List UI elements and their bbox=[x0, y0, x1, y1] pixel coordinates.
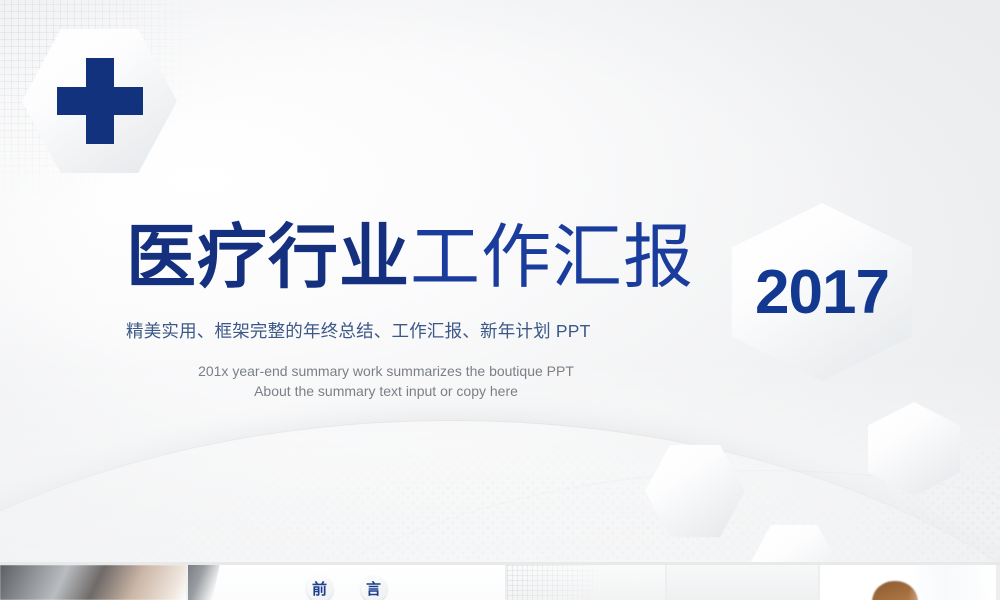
subtitle-chinese: 精美实用、框架完整的年终总结、工作汇报、新年计划 PPT bbox=[126, 318, 686, 343]
thumbnail-mesh-texture bbox=[507, 565, 665, 600]
page-title-light: 工作汇报 bbox=[410, 218, 694, 296]
subtitle-english-line-1: 201x year-end summary work summarizes th… bbox=[126, 361, 646, 381]
medical-cross-icon bbox=[57, 58, 143, 144]
page-title-strong: 医疗行业 bbox=[126, 218, 410, 296]
subtitle-english: 201x year-end summary work summarizes th… bbox=[126, 361, 646, 402]
slide-thumbnail-photo-person[interactable] bbox=[820, 565, 998, 600]
slide-thumbnail-mesh[interactable] bbox=[507, 565, 667, 600]
presentation-slide: 2017 医疗行业工作汇报 精美实用、框架完整的年终总结、工作汇报、新年计划 P… bbox=[0, 0, 1000, 600]
thumbnail-overlay-shape bbox=[908, 565, 998, 600]
slide-thumbnail-blank[interactable] bbox=[667, 565, 819, 600]
title-block: 医疗行业工作汇报 精美实用、框架完整的年终总结、工作汇报、新年计划 PPT 20… bbox=[126, 222, 686, 402]
page-title: 医疗行业工作汇报 bbox=[126, 222, 686, 292]
thumbnail-slant-shape bbox=[188, 565, 220, 600]
preface-char-1: 前 bbox=[307, 576, 333, 600]
slide-thumbnail-preface[interactable]: 前 言 bbox=[188, 565, 507, 600]
year-badge-label: 2017 bbox=[755, 262, 889, 324]
preface-char-2: 言 bbox=[361, 576, 387, 600]
slide-thumbnail-photo-doctors[interactable] bbox=[0, 565, 188, 600]
subtitle-english-line-2: About the summary text input or copy her… bbox=[126, 381, 646, 401]
slide-thumbnail-strip[interactable]: 前 言 bbox=[0, 562, 1000, 600]
